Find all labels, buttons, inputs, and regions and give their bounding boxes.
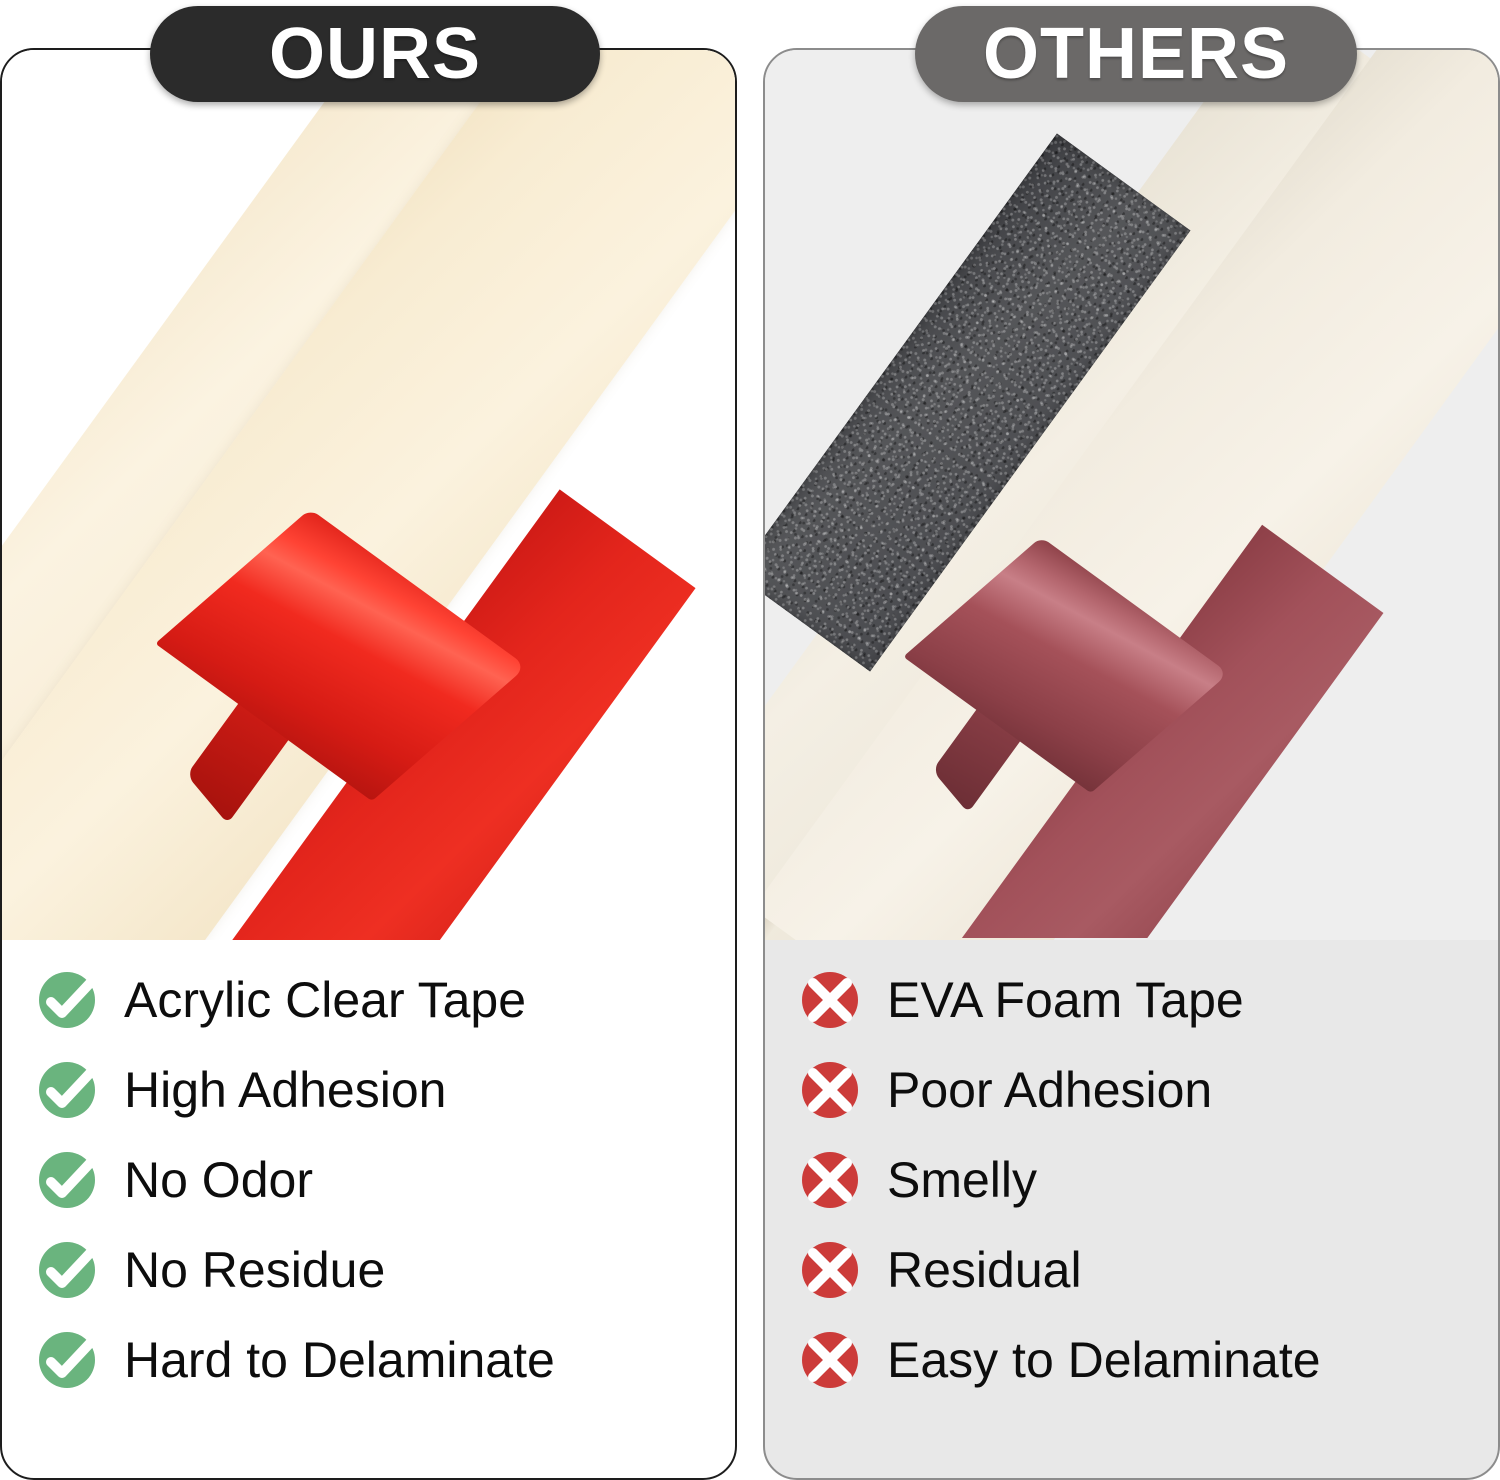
x-circle-icon [799,969,861,1031]
check-circle-icon [36,1149,98,1211]
list-item-label: Acrylic Clear Tape [124,975,526,1025]
ours-panel: Acrylic Clear Tape High Adhesion [0,48,737,1480]
list-item-label: No Odor [124,1155,313,1205]
list-item: High Adhesion [36,1045,701,1135]
ours-badge-label: OURS [269,18,481,90]
others-badge-label: OTHERS [983,18,1289,90]
ours-product-photo [2,50,735,940]
check-circle-icon [36,969,98,1031]
x-circle-icon [799,1239,861,1301]
ours-feature-list: Acrylic Clear Tape High Adhesion [2,955,735,1405]
list-item: Acrylic Clear Tape [36,955,701,1045]
others-product-photo [765,50,1498,940]
list-item: Poor Adhesion [799,1045,1464,1135]
list-item-label: Smelly [887,1155,1037,1205]
list-item-label: Residual [887,1245,1082,1295]
list-item: EVA Foam Tape [799,955,1464,1045]
list-item-label: EVA Foam Tape [887,975,1244,1025]
product-comparison: Acrylic Clear Tape High Adhesion [0,0,1500,1480]
others-feature-list: EVA Foam Tape Poor Adhesion [765,955,1498,1405]
list-item: Residual [799,1225,1464,1315]
x-circle-icon [799,1059,861,1121]
list-item-label: No Residue [124,1245,385,1295]
list-item: Easy to Delaminate [799,1315,1464,1405]
others-badge: OTHERS [915,6,1357,102]
list-item-label: High Adhesion [124,1065,446,1115]
check-circle-icon [36,1239,98,1301]
list-item: Smelly [799,1135,1464,1225]
list-item-label: Hard to Delaminate [124,1335,555,1385]
list-item: No Residue [36,1225,701,1315]
list-item: No Odor [36,1135,701,1225]
others-panel: EVA Foam Tape Poor Adhesion [763,48,1500,1480]
x-circle-icon [799,1329,861,1391]
list-item: Hard to Delaminate [36,1315,701,1405]
check-circle-icon [36,1329,98,1391]
ours-badge: OURS [150,6,600,102]
check-circle-icon [36,1059,98,1121]
list-item-label: Poor Adhesion [887,1065,1212,1115]
list-item-label: Easy to Delaminate [887,1335,1321,1385]
x-circle-icon [799,1149,861,1211]
